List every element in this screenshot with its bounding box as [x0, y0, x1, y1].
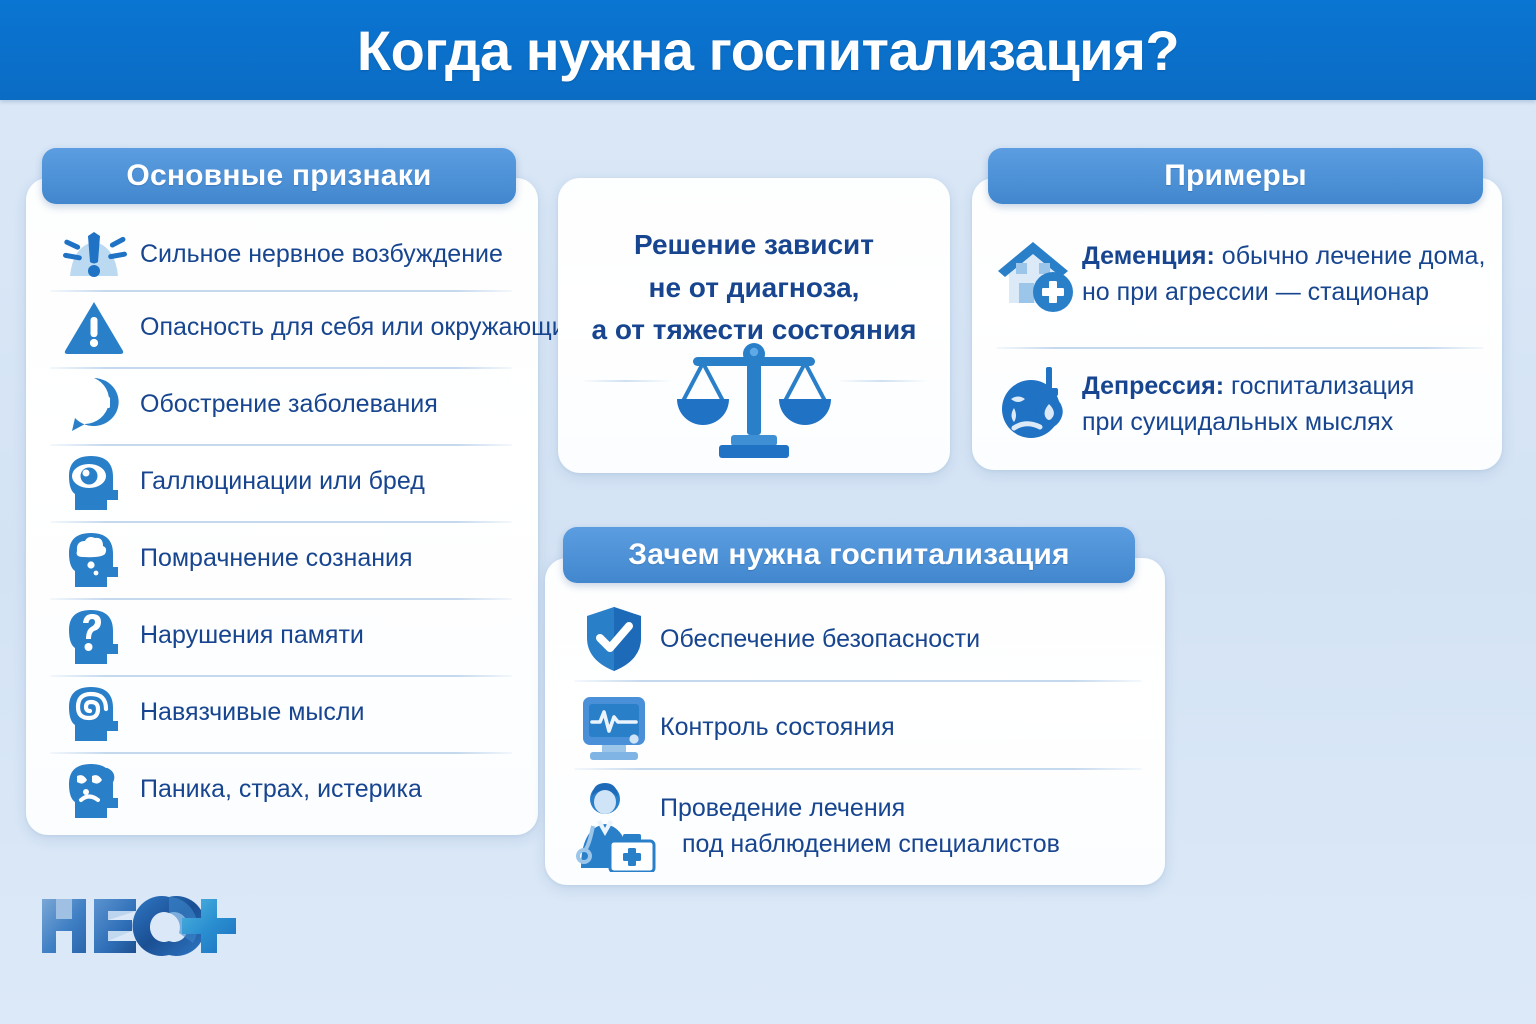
page-title: Когда нужна госпитализация? [357, 18, 1179, 83]
divider [50, 598, 512, 600]
sign-row-7: Навязчивые мысли [48, 681, 518, 743]
purpose-row-2: Контроль состояния [568, 692, 1148, 762]
sign-label-2: Опасность для себя или окружающих [140, 311, 578, 343]
divider [50, 367, 512, 369]
purpose-text-3: Проведение лечения под наблюдением специ… [660, 790, 1060, 863]
head-question-mark-icon [48, 604, 140, 666]
statement-line-1: Решение зависит [580, 224, 928, 267]
divider [50, 290, 512, 292]
house-with-medical-cross-icon [990, 228, 1082, 320]
example-row-2: Депрессия: госпитализация при суицидальн… [990, 358, 1490, 450]
doctor-with-medical-bag-icon [568, 778, 660, 874]
example-rest-2: госпитализация [1224, 372, 1414, 400]
medical-cross-speech-bubble-icon [48, 373, 140, 435]
purpose-panel-heading-label: Зачем нужна госпитализация [628, 538, 1070, 572]
divider [50, 521, 512, 523]
vital-signs-monitor-icon [568, 692, 660, 762]
sign-label-6: Нарушения памяти [140, 619, 364, 651]
purpose-label-2: Контроль состояния [660, 711, 895, 743]
exclamation-burst-icon [48, 222, 140, 286]
purpose-panel-heading: Зачем нужна госпитализация [563, 527, 1135, 583]
divider [996, 347, 1484, 349]
head-fearful-face-icon [48, 758, 140, 820]
examples-panel-heading: Примеры [988, 148, 1483, 204]
signs-panel-heading-label: Основные признаки [126, 159, 431, 193]
purpose-label-3-line2: под наблюдением специалистов [660, 826, 1060, 862]
sign-row-6: Нарушения памяти [48, 604, 518, 666]
neo-plus-logo [38, 893, 238, 959]
example-row-1: Деменция: обычно лечение дома, но при аг… [990, 228, 1490, 320]
sign-label-7: Навязчивые мысли [140, 696, 364, 728]
examples-panel-heading-label: Примеры [1164, 159, 1307, 193]
divider [574, 680, 1142, 682]
purpose-row-3: Проведение лечения под наблюдением специ… [568, 778, 1148, 874]
balance-scales-icon [558, 335, 950, 463]
sign-row-2: Опасность для себя или окружающих [48, 296, 518, 358]
sad-face-noose-icon [990, 358, 1082, 450]
purpose-row-1: Обеспечение безопасности [568, 604, 1148, 674]
head-spiral-icon [48, 681, 140, 743]
signs-panel-heading: Основные признаки [42, 148, 516, 204]
example-line2-2: при суицидальных мыслях [1082, 404, 1414, 440]
page-header: Когда нужна госпитализация? [0, 0, 1536, 100]
infographic-canvas: Когда нужна госпитализация? Основные при… [0, 0, 1536, 1024]
purpose-label-1: Обеспечение безопасности [660, 623, 980, 655]
divider [50, 675, 512, 677]
sign-row-5: Помрачнение сознания [48, 527, 518, 589]
purpose-label-3-line1: Проведение лечения [660, 790, 1060, 826]
sign-row-4: Галлюцинации или бред [48, 450, 518, 512]
head-eye-icon [48, 450, 140, 512]
example-text-2: Депрессия: госпитализация при суицидальн… [1082, 368, 1414, 441]
sign-label-4: Галлюцинации или бред [140, 465, 425, 497]
head-cloud-icon [48, 527, 140, 589]
divider [50, 444, 512, 446]
sign-row-1: Сильное нервное возбуждение [48, 222, 518, 286]
shield-check-icon [568, 604, 660, 674]
sign-label-8: Паника, страх, истерика [140, 773, 422, 805]
example-lead-1: Деменция: [1082, 242, 1215, 270]
sign-row-8: Паника, страх, истерика [48, 758, 518, 820]
statement-line-2: не от диагноза, [580, 267, 928, 310]
example-rest-1: обычно лечение дома, [1215, 242, 1486, 270]
divider [50, 752, 512, 754]
sign-label-1: Сильное нервное возбуждение [140, 238, 503, 270]
warning-triangle-icon [48, 296, 140, 358]
example-line2-1: но при агрессии — стационар [1082, 274, 1485, 310]
divider [574, 768, 1142, 770]
sign-label-5: Помрачнение сознания [140, 542, 413, 574]
statement-text: Решение зависит не от диагноза, а от тяж… [558, 224, 950, 352]
sign-label-3: Обострение заболевания [140, 388, 438, 420]
sign-row-3: Обострение заболевания [48, 373, 518, 435]
example-lead-2: Депрессия: [1082, 372, 1224, 400]
statement-card: Решение зависит не от диагноза, а от тяж… [558, 178, 950, 473]
example-text-1: Деменция: обычно лечение дома, но при аг… [1082, 238, 1485, 311]
